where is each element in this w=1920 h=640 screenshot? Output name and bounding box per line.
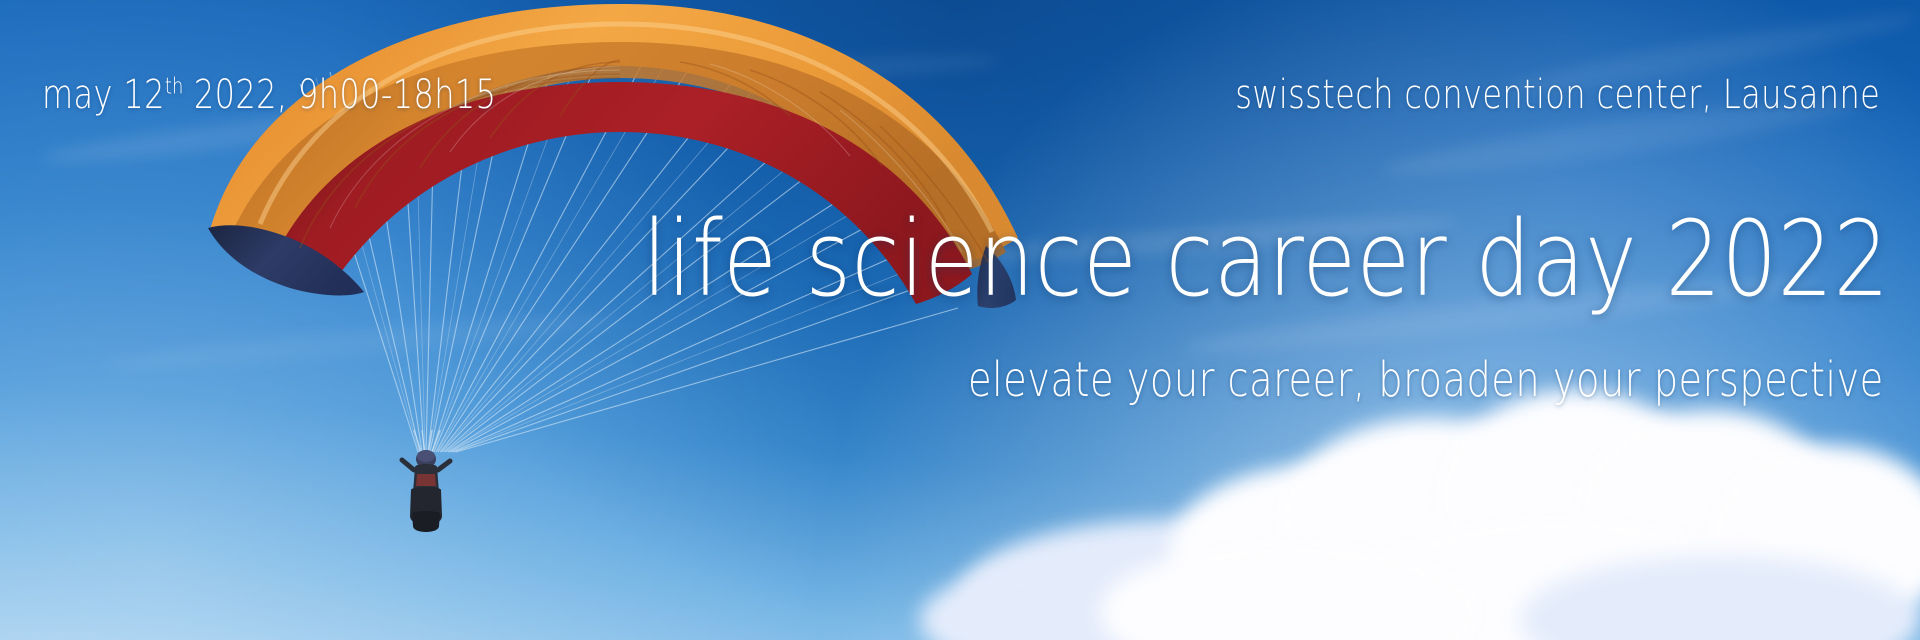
page-title: life science career day 2022 [643,198,1890,320]
event-date-day: may 12 [42,72,165,118]
event-tagline: elevate your career, broaden your perspe… [968,352,1884,408]
event-venue: swisstech convention center, Lausanne [1235,72,1880,118]
event-date-ordinal: th [165,74,183,100]
event-date: may 12th 2022, 9h00-18h15 [42,72,496,118]
paraglider-pilot [392,430,462,540]
event-date-time: 2022, 9h00-18h15 [183,72,496,118]
event-banner: may 12th 2022, 9h00-18h15 swisstech conv… [0,0,1920,640]
